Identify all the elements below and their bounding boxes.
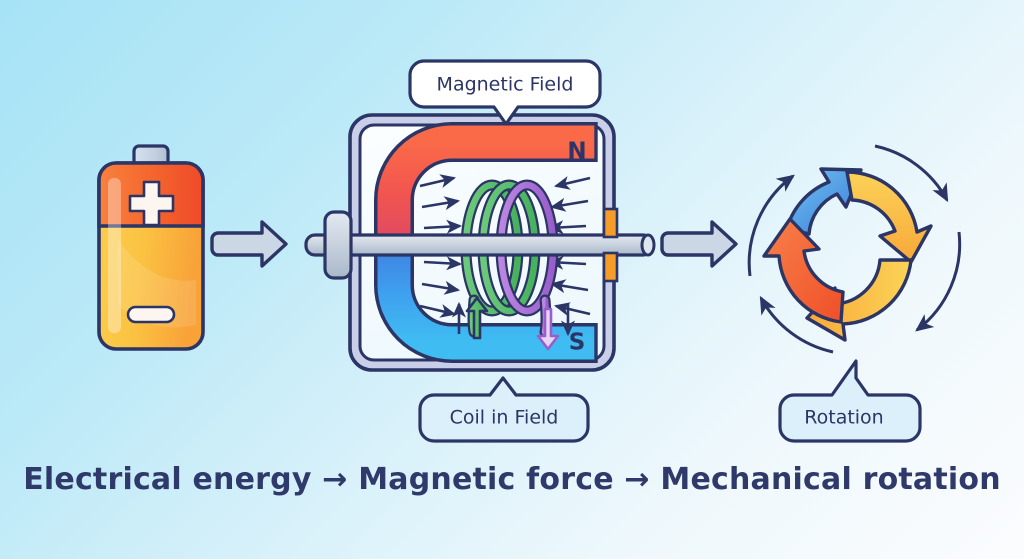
caption-part-magnetic: Magnetic force (358, 462, 614, 497)
callout-rotation[interactable]: Rotation (780, 361, 920, 441)
rotation-cycle-icon (749, 146, 959, 352)
callout-coil-in-field-label: Coil in Field (450, 407, 559, 429)
callout-rotation-label: Rotation (804, 407, 883, 429)
caption-arrow-2: → (624, 462, 649, 497)
north-pole-label: N (567, 139, 586, 165)
diagram-canvas: N S (0, 0, 1024, 559)
caption-part-mechanical: Mechanical rotation (660, 462, 1000, 497)
caption-part-electrical: Electrical energy (23, 462, 311, 497)
callout-magnetic-field-label: Magnetic Field (437, 74, 574, 96)
flow-arrow-1-icon (212, 222, 286, 266)
caption-arrow-1: → (322, 462, 347, 497)
south-pole-label: S (569, 330, 586, 356)
flow-arrow-2-icon (662, 222, 736, 266)
diagram-caption: Electrical energy → Magnetic force → Mec… (0, 462, 1024, 497)
battery-minus-icon (128, 307, 174, 322)
battery-icon (99, 146, 203, 349)
callout-coil-in-field[interactable]: Coil in Field (420, 378, 588, 441)
